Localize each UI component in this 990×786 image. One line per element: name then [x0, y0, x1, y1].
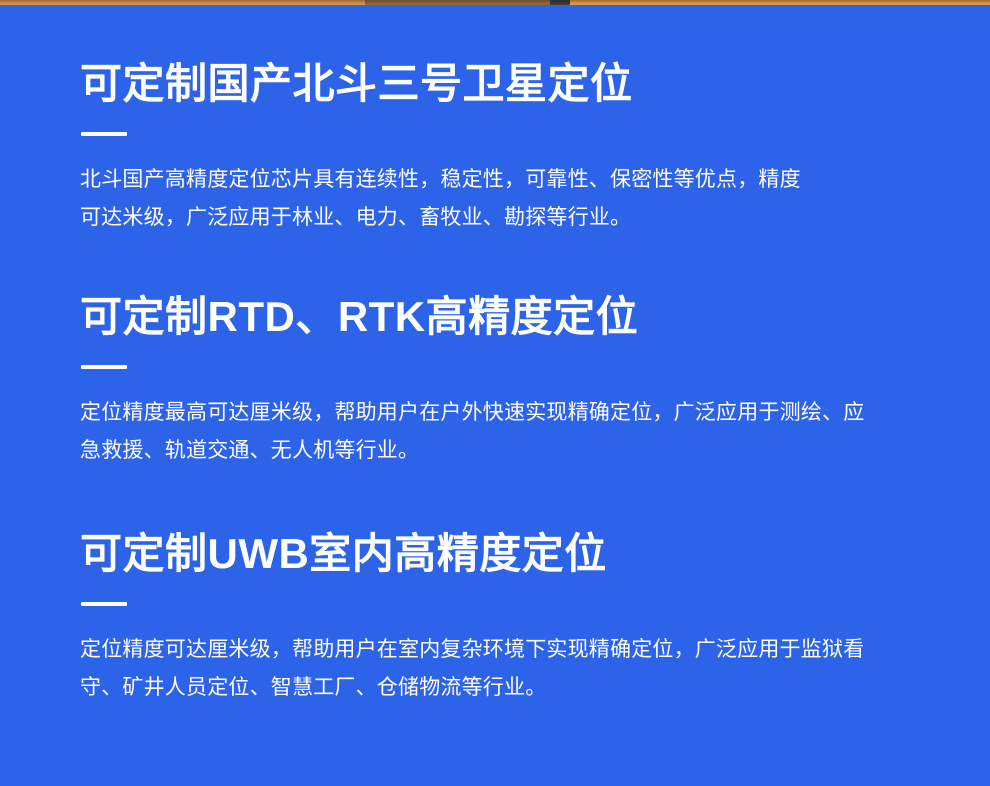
feature-block-rtd-rtk: 可定制RTD、RTK高精度定位 定位精度最高可达厘米级，帮助用户在户外快速实现精… — [80, 237, 910, 470]
feature-divider-rtd-rtk — [81, 365, 127, 369]
feature-heading-rtd-rtk: 可定制RTD、RTK高精度定位 — [80, 291, 910, 343]
feature-list: 可定制国产北斗三号卫星定位 北斗国产高精度定位芯片具有连续性，稳定性，可靠性、保… — [0, 0, 990, 707]
feature-body-uwb: 定位精度可达厘米级，帮助用户在室内复杂环境下实现精确定位，广泛应用于监狱看守、矿… — [80, 631, 880, 707]
feature-body-rtd-rtk: 定位精度最高可达厘米级，帮助用户在户外快速实现精确定位，广泛应用于测绘、应急救援… — [80, 394, 880, 470]
feature-heading-uwb: 可定制UWB室内高精度定位 — [80, 528, 910, 580]
feature-body-beidou: 北斗国产高精度定位芯片具有连续性，稳定性，可靠性、保密性等优点，精度可达米级，广… — [80, 161, 820, 237]
feature-block-beidou: 可定制国产北斗三号卫星定位 北斗国产高精度定位芯片具有连续性，稳定性，可靠性、保… — [80, 0, 910, 237]
feature-divider-uwb — [81, 602, 127, 606]
feature-block-uwb: 可定制UWB室内高精度定位 定位精度可达厘米级，帮助用户在室内复杂环境下实现精确… — [80, 470, 910, 707]
feature-list-page: 可定制国产北斗三号卫星定位 北斗国产高精度定位芯片具有连续性，稳定性，可靠性、保… — [0, 0, 990, 786]
feature-divider-beidou — [81, 132, 127, 136]
feature-heading-beidou: 可定制国产北斗三号卫星定位 — [80, 58, 910, 110]
